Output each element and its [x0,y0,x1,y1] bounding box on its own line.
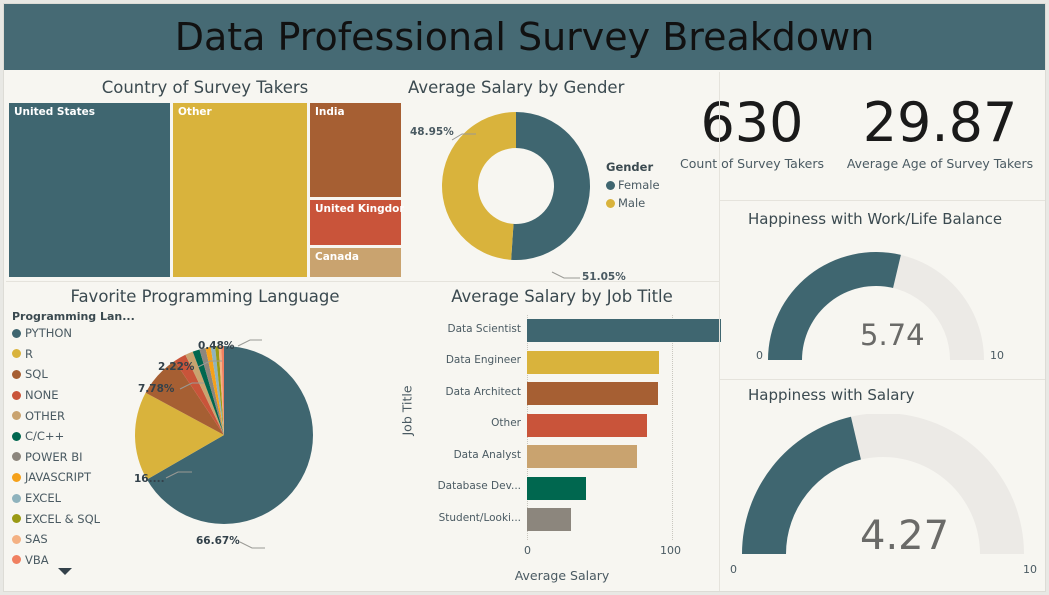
gauge-work-life-balance-value: 5.74 [860,318,925,352]
bar-category-label: Data Scientist [404,323,521,335]
pie-legend-label: EXCEL [25,491,61,505]
bar-x-tick: 100 [660,544,681,557]
treemap-cell-label: United Kingdom [315,203,410,215]
pie-legend-item[interactable]: OTHER [12,405,135,426]
pie-legend-item[interactable]: C/C++ [12,426,135,447]
kpi-count: 630 Count of Survey Takers [672,96,832,171]
divider-gauge-mid [720,379,1045,380]
treemap-title: Country of Survey Takers [6,78,404,97]
legend-swatch-icon [12,452,21,461]
dashboard-header: Data Professional Survey Breakdown [4,4,1045,70]
bar-category-label: Other [404,417,521,429]
treemap-cell-label: United States [14,106,95,118]
gauge-salary-title: Happiness with Salary [748,386,1008,405]
legend-swatch-icon [12,370,21,379]
legend-swatch-icon [12,494,21,503]
pie-legend-item[interactable]: EXCEL [12,488,135,509]
pie-callout-label: 2.22% [158,361,194,373]
bar-category-label: Data Architect [404,386,521,398]
bar-rect[interactable] [527,445,637,468]
treemap-cell[interactable]: United States [8,102,171,278]
pie-legend[interactable]: Programming Lan... PYTHONRSQLNONEOTHERC/… [12,310,135,570]
bar-gridline [672,315,673,540]
legend-swatch-icon [606,199,615,208]
pie-panel: Favorite Programming Language Programmin… [6,283,404,591]
donut-legend-label: Female [618,178,660,192]
page-title: Data Professional Survey Breakdown [175,15,875,59]
bar-category-label: Data Analyst [404,449,521,461]
pie-legend-item[interactable]: NONE [12,385,135,406]
bar-rect[interactable] [527,382,658,405]
treemap-cell-label: Other [178,106,212,118]
legend-swatch-icon [606,181,615,190]
pie-legend-item[interactable]: POWER BI [12,447,135,468]
pie-legend-label: EXCEL & SQL [25,512,100,526]
legend-swatch-icon [12,555,21,564]
gauge-work-life-balance-title: Happiness with Work/Life Balance [748,210,1008,229]
bar-x-tick: 0 [524,544,531,557]
kpi-avg-age-value: 29.87 [840,96,1040,150]
gauge-work-life-balance: Happiness with Work/Life Balance 5.74 0 … [720,206,1045,378]
pie-callout-label: 66.67% [196,535,240,547]
legend-swatch-icon [12,432,21,441]
pie-legend-item[interactable]: PYTHON [12,323,135,344]
legend-swatch-icon [12,514,21,523]
pie-legend-label: POWER BI [25,450,83,464]
donut-legend-title: Gender [606,160,660,174]
gauge-salary-min: 0 [730,563,737,576]
pie-legend-label: R [25,347,33,361]
bar-panel: Average Salary by Job Title Job Title Av… [404,283,720,591]
bar-category-label: Database Dev... [404,480,521,492]
kpi-avg-age-caption: Average Age of Survey Takers [840,156,1040,171]
gauge-work-life-balance-max: 10 [990,349,1004,362]
gauge-salary: Happiness with Salary 4.27 0 10 [720,382,1045,590]
legend-swatch-icon [12,391,21,400]
donut-title: Average Salary by Gender [408,78,624,97]
pie-legend-label: NONE [25,388,59,402]
pie-callout-label: 0.48% [198,340,234,352]
pie-title: Favorite Programming Language [6,287,404,306]
legend-swatch-icon [12,535,21,544]
bar-rect[interactable] [527,319,721,342]
pie-legend-item[interactable]: JAVASCRIPT [12,467,135,488]
pie-legend-label: OTHER [25,409,65,423]
divider-gauge-top [720,200,1045,201]
gauge-salary-value: 4.27 [860,513,949,559]
donut-legend-item[interactable]: Male [606,196,660,210]
treemap-cell-label: Canada [315,251,359,263]
gauge-salary-max: 10 [1023,563,1037,576]
treemap-cell[interactable]: Canada [309,247,402,278]
donut-chart[interactable] [440,110,592,266]
legend-swatch-icon [12,411,21,420]
bar-rect[interactable] [527,414,647,437]
treemap-cell[interactable]: India [309,102,402,198]
pie-legend-label: SQL [25,367,48,381]
bar-rect[interactable] [527,351,659,374]
pie-legend-label: JAVASCRIPT [25,470,91,484]
donut-panel: Average Salary by Gender 48.95% 51.05% G… [404,72,704,284]
treemap-cell[interactable]: United Kingdom [309,199,402,246]
bar-category-label: Student/Looki... [404,512,521,524]
donut-legend-label: Male [618,196,645,210]
bar-rect[interactable] [527,477,586,500]
bar-x-axis-label: Average Salary [404,568,720,583]
dashboard-root: Data Professional Survey Breakdown Count… [0,0,1049,595]
bar-rect[interactable] [527,508,571,531]
pie-legend-title: Programming Lan... [12,310,135,323]
donut-label-male: 48.95% [410,126,454,138]
pie-callout-label: 7.78% [138,383,174,395]
bar-category-label: Data Engineer [404,354,521,366]
pie-legend-item[interactable]: SAS [12,529,135,550]
pie-callout-label: 16.... [134,473,165,485]
legend-swatch-icon [12,349,21,358]
pie-legend-label: C/C++ [25,429,64,443]
kpi-count-value: 630 [672,96,832,150]
pie-legend-label: VBA [25,553,49,567]
pie-legend-item[interactable]: R [12,344,135,365]
pie-legend-label: PYTHON [25,326,72,340]
pie-legend-item[interactable]: VBA [12,550,135,571]
divider-horizontal [6,281,720,282]
legend-swatch-icon [12,329,21,338]
legend-scroll-down-icon[interactable] [58,568,72,575]
donut-legend: Gender FemaleMale [606,160,660,210]
treemap-cell[interactable]: Other [172,102,308,278]
bar-plot-area[interactable]: 0100Data ScientistData EngineerData Arch… [404,313,720,565]
gauge-work-life-balance-min: 0 [756,349,763,362]
kpi-count-caption: Count of Survey Takers [672,156,832,171]
treemap-panel: Country of Survey Takers United StatesOt… [6,72,404,280]
pie-legend-item[interactable]: EXCEL & SQL [12,508,135,529]
treemap-area[interactable]: United StatesOtherIndiaUnited KingdomCan… [8,102,402,278]
legend-swatch-icon [12,473,21,482]
donut-legend-item[interactable]: Female [606,178,660,192]
divider-vertical [719,72,720,591]
pie-legend-label: SAS [25,532,48,546]
bar-title: Average Salary by Job Title [404,287,720,306]
pie-legend-item[interactable]: SQL [12,364,135,385]
kpi-avg-age: 29.87 Average Age of Survey Takers [840,96,1040,171]
treemap-cell-label: India [315,106,345,118]
